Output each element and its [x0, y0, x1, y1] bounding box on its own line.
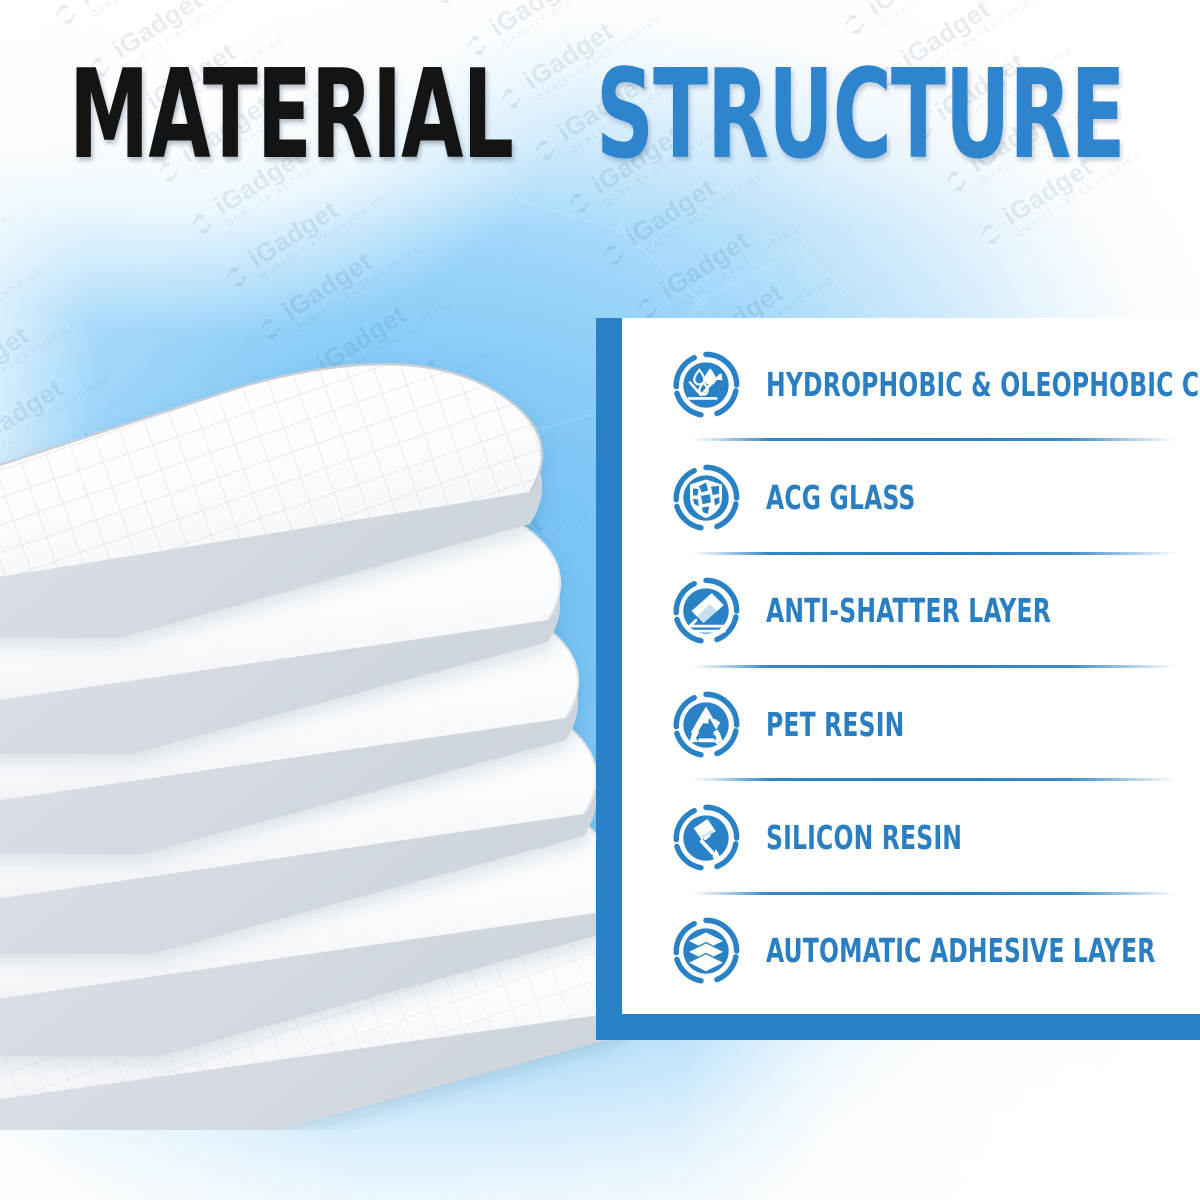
layer-row-label: PET RESIN: [766, 706, 904, 744]
shield-glass-icon: [664, 456, 748, 540]
page-title-part-two: STRUCTURE: [596, 53, 1125, 176]
layer-row[interactable]: AUTOMATIC ADHESIVE LAYER: [664, 895, 1200, 1008]
layer-row[interactable]: HYDROPHOBIC & OLEOPHOBIC COATING: [664, 328, 1200, 441]
layer-row-label: AUTOMATIC ADHESIVE LAYER: [766, 932, 1156, 970]
layered-material-stack-illustration: [0, 250, 680, 1130]
layer-row-list: HYDROPHOBIC & OLEOPHOBIC COATING ACG GLA…: [664, 328, 1200, 1008]
recycle-icon: [664, 683, 748, 767]
panel-accent-left-bar: [596, 318, 622, 1040]
material-structure-infographic: iGadget QUALITY ACCESSORIES iGadget QUAL…: [0, 0, 1200, 1200]
layer-row[interactable]: SILICON RESIN: [664, 781, 1200, 894]
anti-shatter-icon: [664, 569, 748, 653]
panel-body: HYDROPHOBIC & OLEOPHOBIC COATING ACG GLA…: [622, 318, 1200, 1014]
page-title-part-one: MATERIAL: [69, 53, 513, 176]
layer-row-label: ACG GLASS: [766, 479, 916, 517]
layer-row-label: HYDROPHOBIC & OLEOPHOBIC COATING: [766, 366, 1200, 404]
layers-panel: HYDROPHOBIC & OLEOPHOBIC COATING ACG GLA…: [596, 318, 1200, 1040]
layer-row[interactable]: ANTI-SHATTER LAYER: [664, 555, 1200, 668]
page-title: MATERIALSTRUCTURE: [0, 72, 1200, 176]
stacked-layers-icon: [664, 909, 748, 993]
layer-row-label: SILICON RESIN: [766, 819, 962, 857]
layer-row[interactable]: PET RESIN: [664, 668, 1200, 781]
layer-row-label: ANTI-SHATTER LAYER: [766, 592, 1051, 630]
water-repellent-icon: [664, 343, 748, 427]
layer-row[interactable]: ACG GLASS: [664, 441, 1200, 554]
glue-pour-icon: [664, 796, 748, 880]
panel-accent-bottom-bar: [596, 1014, 1200, 1040]
